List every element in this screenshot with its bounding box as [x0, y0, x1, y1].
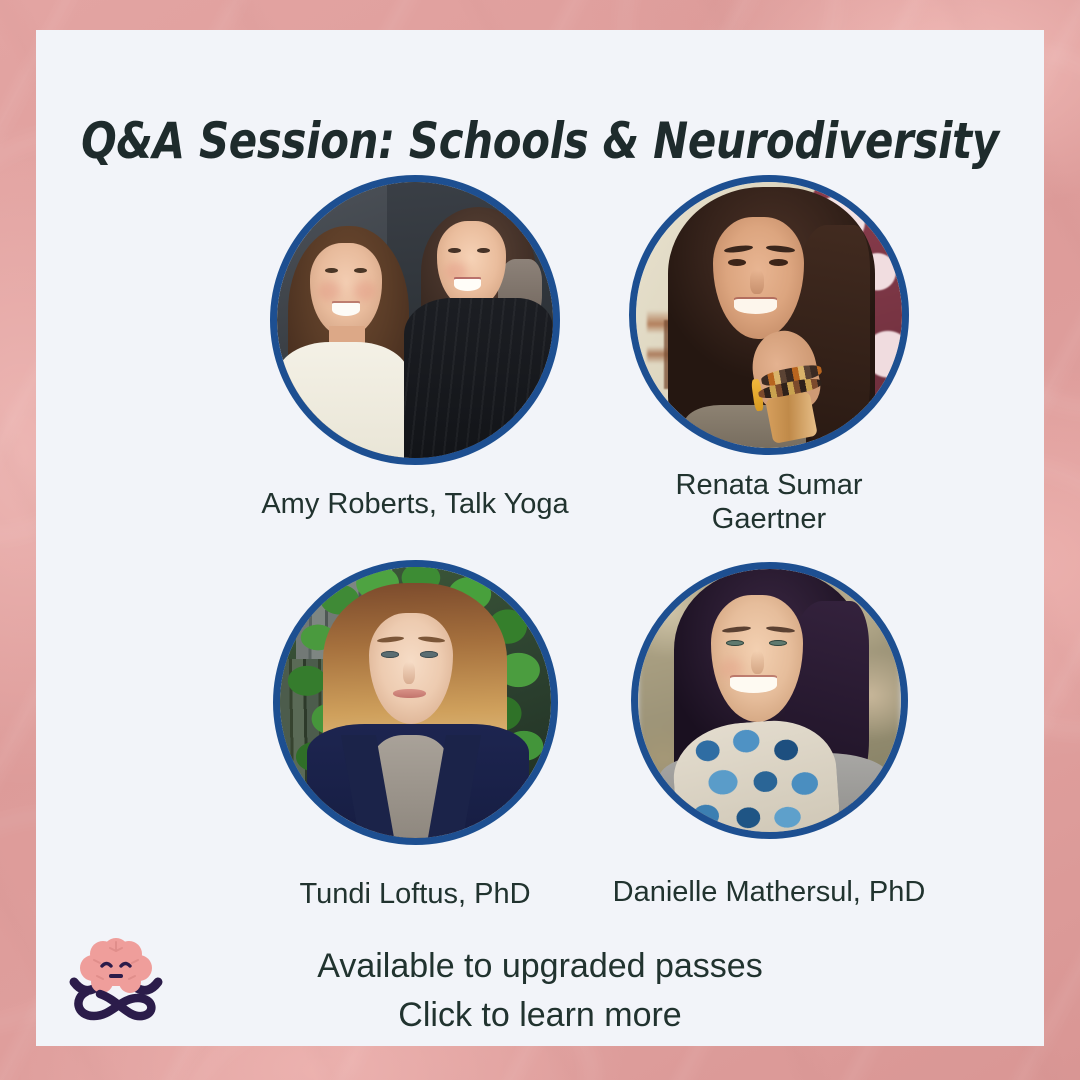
brain-lotus-legs — [78, 992, 151, 1016]
speaker-photo-ring — [631, 562, 908, 839]
speaker-photo-amy-roberts — [277, 182, 553, 458]
speaker-photo-danielle-mathersul — [638, 569, 901, 832]
speaker-photo-tundi-loftus — [280, 567, 551, 838]
speaker-tundi-loftus: Tundi Loftus, PhD — [230, 560, 600, 911]
speaker-photo-ring — [270, 175, 560, 465]
speaker-photo-ring — [629, 175, 909, 455]
cta-text[interactable]: Available to upgraded passes Click to le… — [36, 942, 1044, 1041]
speaker-amy-roberts: Amy Roberts, Talk Yoga — [230, 175, 600, 521]
page-title: Q&A Session: Schools & Neurodiversity — [71, 112, 1008, 170]
promo-card: Q&A Session: Schools & Neurodiversity Am… — [36, 30, 1044, 1046]
speaker-name-label: Amy Roberts, Talk Yoga — [230, 487, 600, 521]
speaker-name-label: Renata Sumar Gaertner — [584, 468, 954, 536]
meditating-brain-logo — [64, 924, 168, 1028]
speaker-photo-ring — [273, 560, 558, 845]
speaker-danielle-mathersul: Danielle Mathersul, PhD — [584, 562, 954, 909]
speaker-photo-renata-sumar-gaertner — [636, 182, 902, 448]
speaker-renata-sumar-gaertner: Renata Sumar Gaertner — [584, 175, 954, 536]
brain-face-mouth — [109, 974, 123, 978]
speaker-name-label: Tundi Loftus, PhD — [230, 877, 600, 911]
speaker-name-label: Danielle Mathersul, PhD — [584, 875, 954, 909]
